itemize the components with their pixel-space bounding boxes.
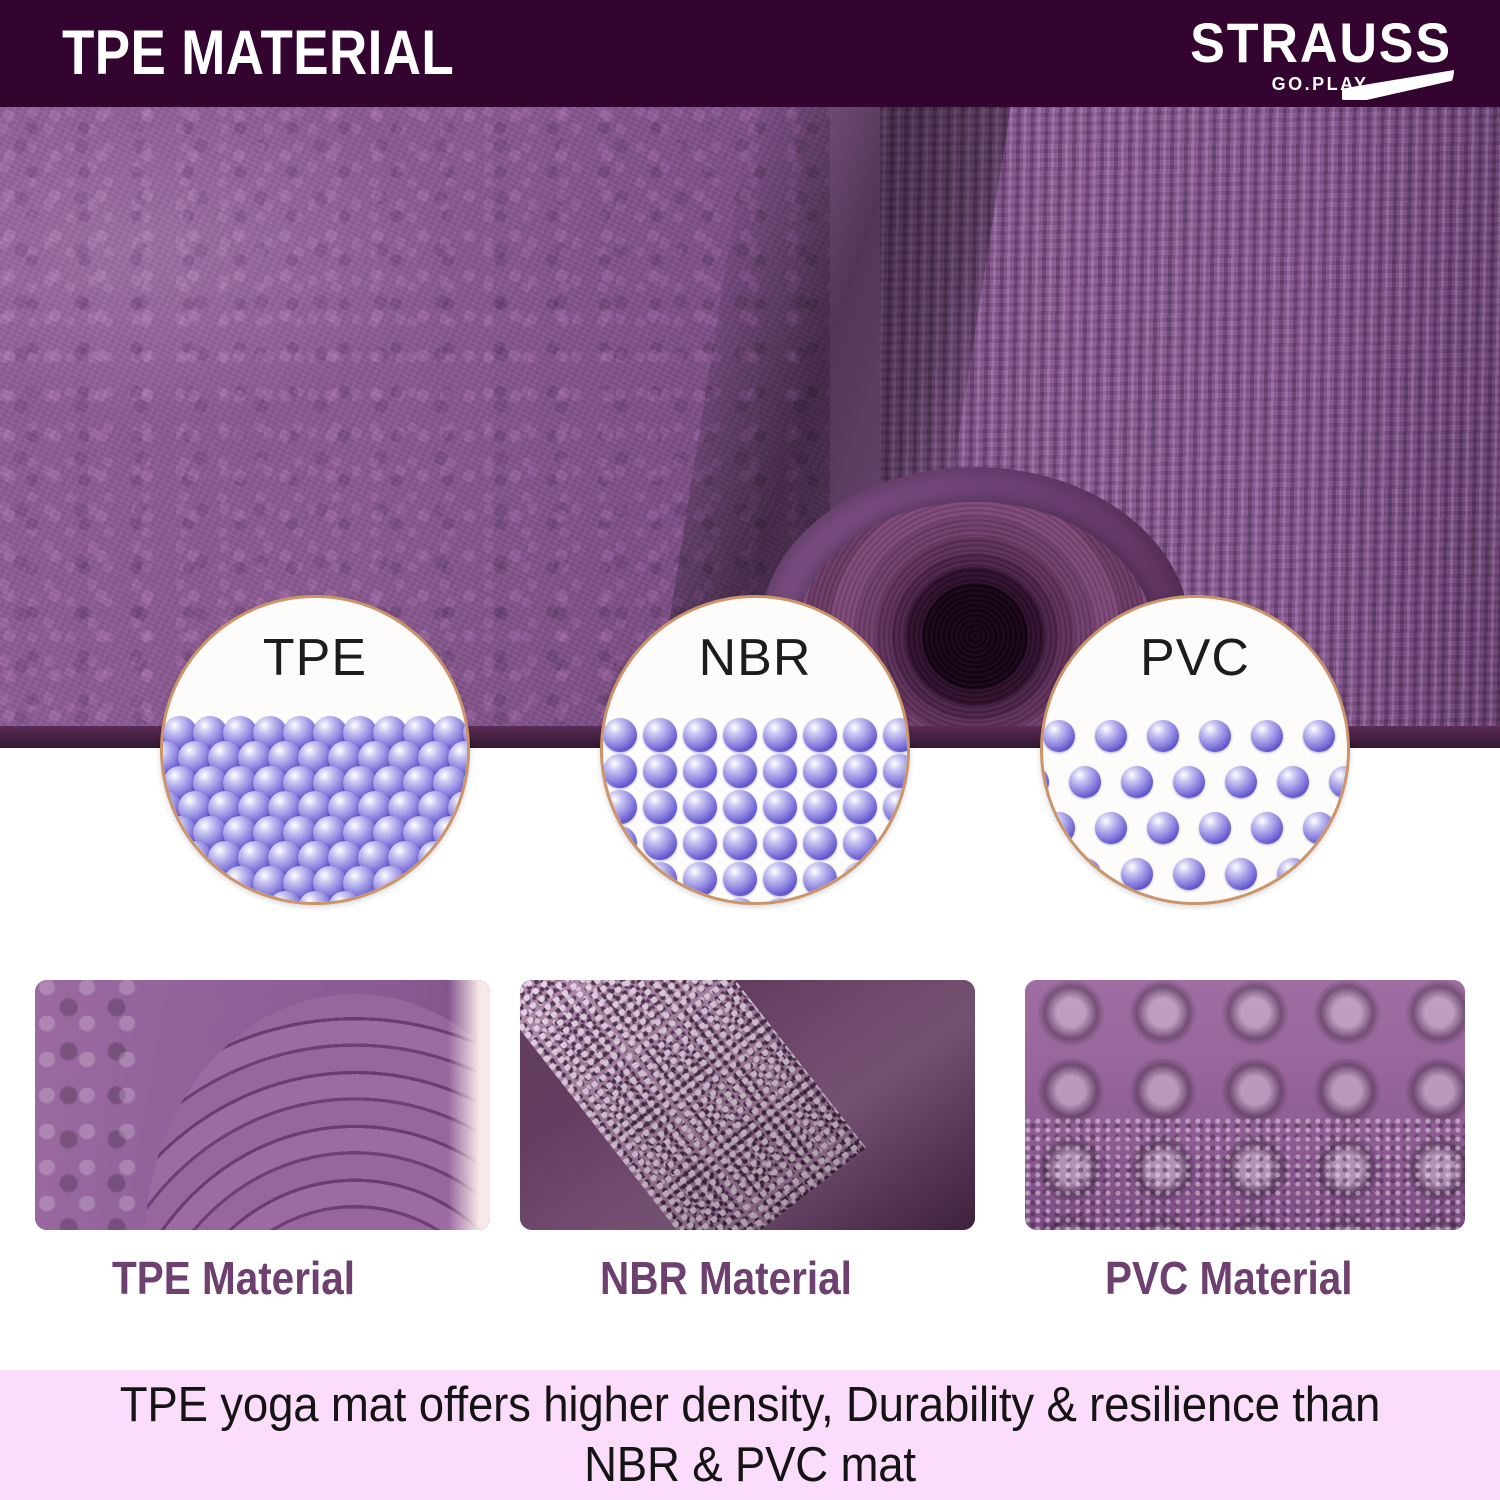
- thumbnail-pvc-image: [1025, 980, 1465, 1230]
- molecule-sphere: [603, 862, 637, 896]
- footer-caption: TPE yoga mat offers higher density, Dura…: [80, 1375, 1419, 1495]
- molecule-sphere: [723, 898, 757, 905]
- molecule-sphere: [723, 862, 757, 896]
- molecule-sphere: [843, 718, 877, 752]
- molecule-sphere: [763, 718, 797, 752]
- molecule-sphere: [1147, 812, 1179, 844]
- molecule-sphere: [1277, 766, 1309, 798]
- thumbnail-label-pvc: PVC Material: [1105, 1252, 1352, 1304]
- molecule-sphere: [843, 790, 877, 824]
- callout-circle-nbr: NBR: [600, 595, 910, 905]
- brand-logo: STRAUSS GO.PLAY.: [1062, 14, 1452, 98]
- molecule-sphere: [843, 826, 877, 860]
- molecule-sphere: [1173, 858, 1205, 890]
- thumbnail-pvc: [1025, 980, 1465, 1230]
- molecule-sphere: [1121, 858, 1153, 890]
- molecule-sphere: [883, 862, 910, 896]
- molecule-sphere: [1040, 766, 1049, 798]
- molecule-sphere: [1043, 720, 1075, 752]
- footer-banner: TPE yoga mat offers higher density, Dura…: [0, 1370, 1500, 1500]
- molecule-sphere: [1199, 720, 1231, 752]
- molecule-sphere: [643, 754, 677, 788]
- callout-circle-pvc: PVC: [1040, 595, 1350, 905]
- molecule-sphere: [643, 862, 677, 896]
- molecule-sphere: [763, 790, 797, 824]
- nbr-sheen: [520, 980, 975, 1230]
- header-bar: TPE MATERIAL STRAUSS GO.PLAY.: [0, 0, 1500, 107]
- molecule-sphere: [803, 718, 837, 752]
- callout-label-pvc: PVC: [1043, 630, 1347, 686]
- molecule-sphere: [883, 826, 910, 860]
- molecule-sphere: [763, 862, 797, 896]
- sphere-field-nbr: [603, 716, 907, 905]
- molecule-sphere: [1303, 720, 1335, 752]
- molecule-sphere: [1199, 904, 1231, 905]
- sphere-field-tpe: [163, 716, 467, 905]
- molecule-sphere: [643, 718, 677, 752]
- molecule-sphere: [683, 826, 717, 860]
- molecule-sphere: [1329, 858, 1350, 890]
- molecule-sphere: [1095, 812, 1127, 844]
- molecule-sphere: [883, 898, 910, 905]
- molecule-sphere: [803, 826, 837, 860]
- thumbnail-tpe-highlight: [448, 980, 490, 1230]
- molecule-sphere: [803, 898, 837, 905]
- molecule-sphere: [843, 754, 877, 788]
- molecule-sphere: [723, 718, 757, 752]
- molecule-sphere: [883, 790, 910, 824]
- molecule-sphere: [1043, 904, 1075, 905]
- molecule-sphere: [1095, 904, 1127, 905]
- molecule-sphere: [603, 790, 637, 824]
- molecule-sphere: [1251, 720, 1283, 752]
- page-title: TPE MATERIAL: [62, 16, 454, 90]
- molecule-sphere: [1303, 812, 1335, 844]
- molecule-sphere: [883, 718, 910, 752]
- molecule-sphere: [723, 754, 757, 788]
- molecule-sphere: [683, 862, 717, 896]
- molecule-sphere: [603, 826, 637, 860]
- molecule-sphere: [723, 790, 757, 824]
- infographic-page: TPE MATERIAL STRAUSS GO.PLAY. TPE NBR PV…: [0, 0, 1500, 1500]
- molecule-sphere: [1147, 720, 1179, 752]
- molecule-sphere: [1069, 766, 1101, 798]
- molecule-sphere: [1147, 904, 1179, 905]
- sphere-field-pvc: [1043, 716, 1347, 905]
- callout-label-nbr: NBR: [603, 630, 907, 686]
- molecule-sphere: [723, 826, 757, 860]
- molecule-sphere: [883, 754, 910, 788]
- molecule-sphere: [763, 898, 797, 905]
- molecule-sphere: [603, 898, 637, 905]
- molecule-sphere: [1251, 812, 1283, 844]
- molecule-sphere: [1173, 766, 1205, 798]
- molecule-sphere: [643, 826, 677, 860]
- molecule-sphere: [1251, 904, 1283, 905]
- molecule-sphere: [843, 862, 877, 896]
- molecule-sphere: [1121, 766, 1153, 798]
- molecule-sphere: [683, 790, 717, 824]
- thumbnail-tpe-image: [35, 980, 490, 1230]
- molecule-sphere: [603, 718, 637, 752]
- molecule-sphere: [1329, 766, 1350, 798]
- molecule-sphere: [1303, 904, 1335, 905]
- molecule-sphere: [683, 718, 717, 752]
- molecule-sphere: [843, 898, 877, 905]
- callout-label-tpe: TPE: [163, 630, 467, 686]
- molecule-sphere: [683, 898, 717, 905]
- thumbnail-tpe: [35, 980, 490, 1230]
- molecule-sphere: [1225, 766, 1257, 798]
- thumbnail-label-tpe: TPE Material: [112, 1252, 355, 1304]
- molecule-sphere: [683, 754, 717, 788]
- molecule-sphere: [763, 826, 797, 860]
- molecule-sphere: [1095, 720, 1127, 752]
- molecule-sphere: [1040, 858, 1049, 890]
- molecule-sphere: [1225, 858, 1257, 890]
- molecule-sphere: [643, 790, 677, 824]
- thumbnail-nbr-image: [520, 980, 975, 1230]
- molecule-sphere: [803, 754, 837, 788]
- molecule-sphere: [803, 790, 837, 824]
- molecule-sphere: [643, 898, 677, 905]
- molecule-sphere: [803, 862, 837, 896]
- molecule-sphere: [1043, 812, 1075, 844]
- molecule-sphere: [1069, 858, 1101, 890]
- callout-circle-tpe: TPE: [160, 595, 470, 905]
- thumbnail-nbr: [520, 980, 975, 1230]
- molecule-sphere: [603, 754, 637, 788]
- molecule-sphere: [1199, 812, 1231, 844]
- molecule-sphere: [1277, 858, 1309, 890]
- thumbnail-label-nbr: NBR Material: [600, 1252, 852, 1304]
- molecule-sphere: [763, 754, 797, 788]
- brand-wordmark: STRAUSS: [1089, 14, 1452, 72]
